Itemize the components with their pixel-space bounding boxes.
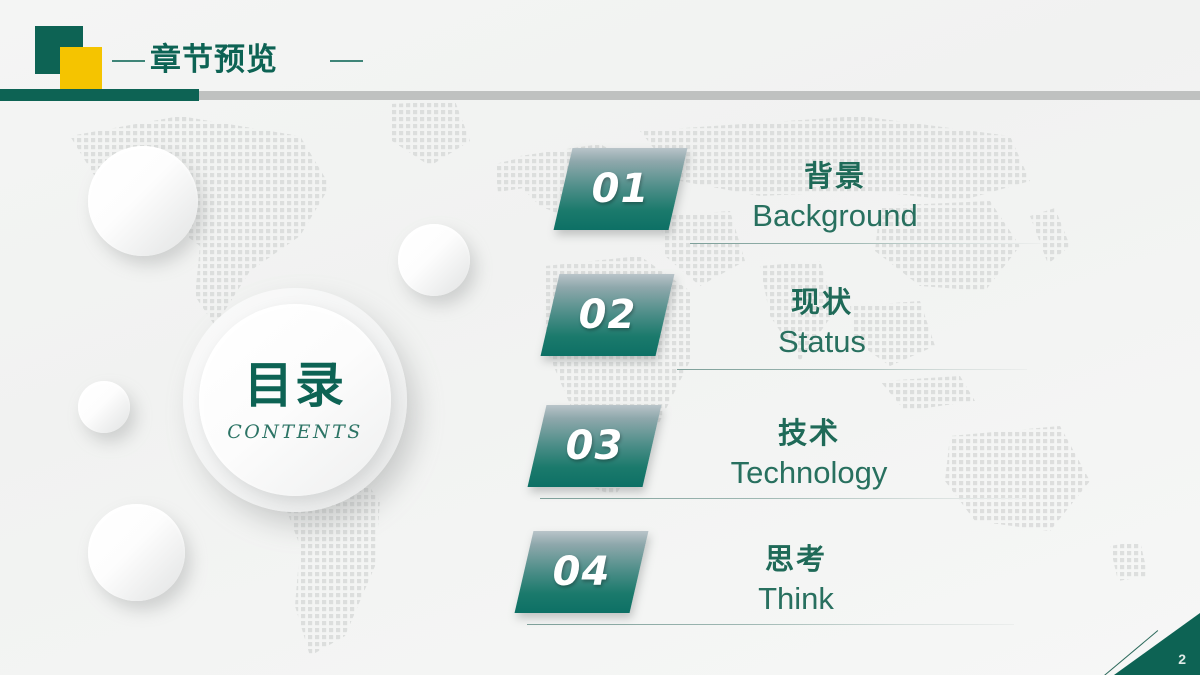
agenda-title-en-04: Think [651,579,941,619]
agenda-underline-02 [677,369,1027,370]
agenda-number-03: 03 [537,405,652,487]
agenda-title-cn-04: 思考 [651,541,941,577]
agenda-list: 01 背景 Background 02 现状 Status 03 技术 Tech… [0,0,1200,675]
agenda-title-en-03: Technology [664,453,954,493]
agenda-title-cn-01: 背景 [690,158,980,194]
agenda-title-en-02: Status [677,322,967,362]
page-number: 2 [1178,651,1186,667]
agenda-number-01: 01 [563,148,678,230]
agenda-number-02: 02 [550,274,665,356]
agenda-number-04: 04 [524,531,639,613]
agenda-underline-03 [540,498,1027,499]
slide-canvas: 章节预览 目录 CONTENTS 01 背景 Background 02 [0,0,1200,675]
agenda-title-en-01: Background [690,196,980,236]
agenda-underline-01 [690,243,1040,244]
corner-triangle [1114,613,1200,675]
agenda-title-cn-03: 技术 [664,415,954,451]
agenda-title-cn-02: 现状 [677,284,967,320]
agenda-underline-04 [527,624,1014,625]
